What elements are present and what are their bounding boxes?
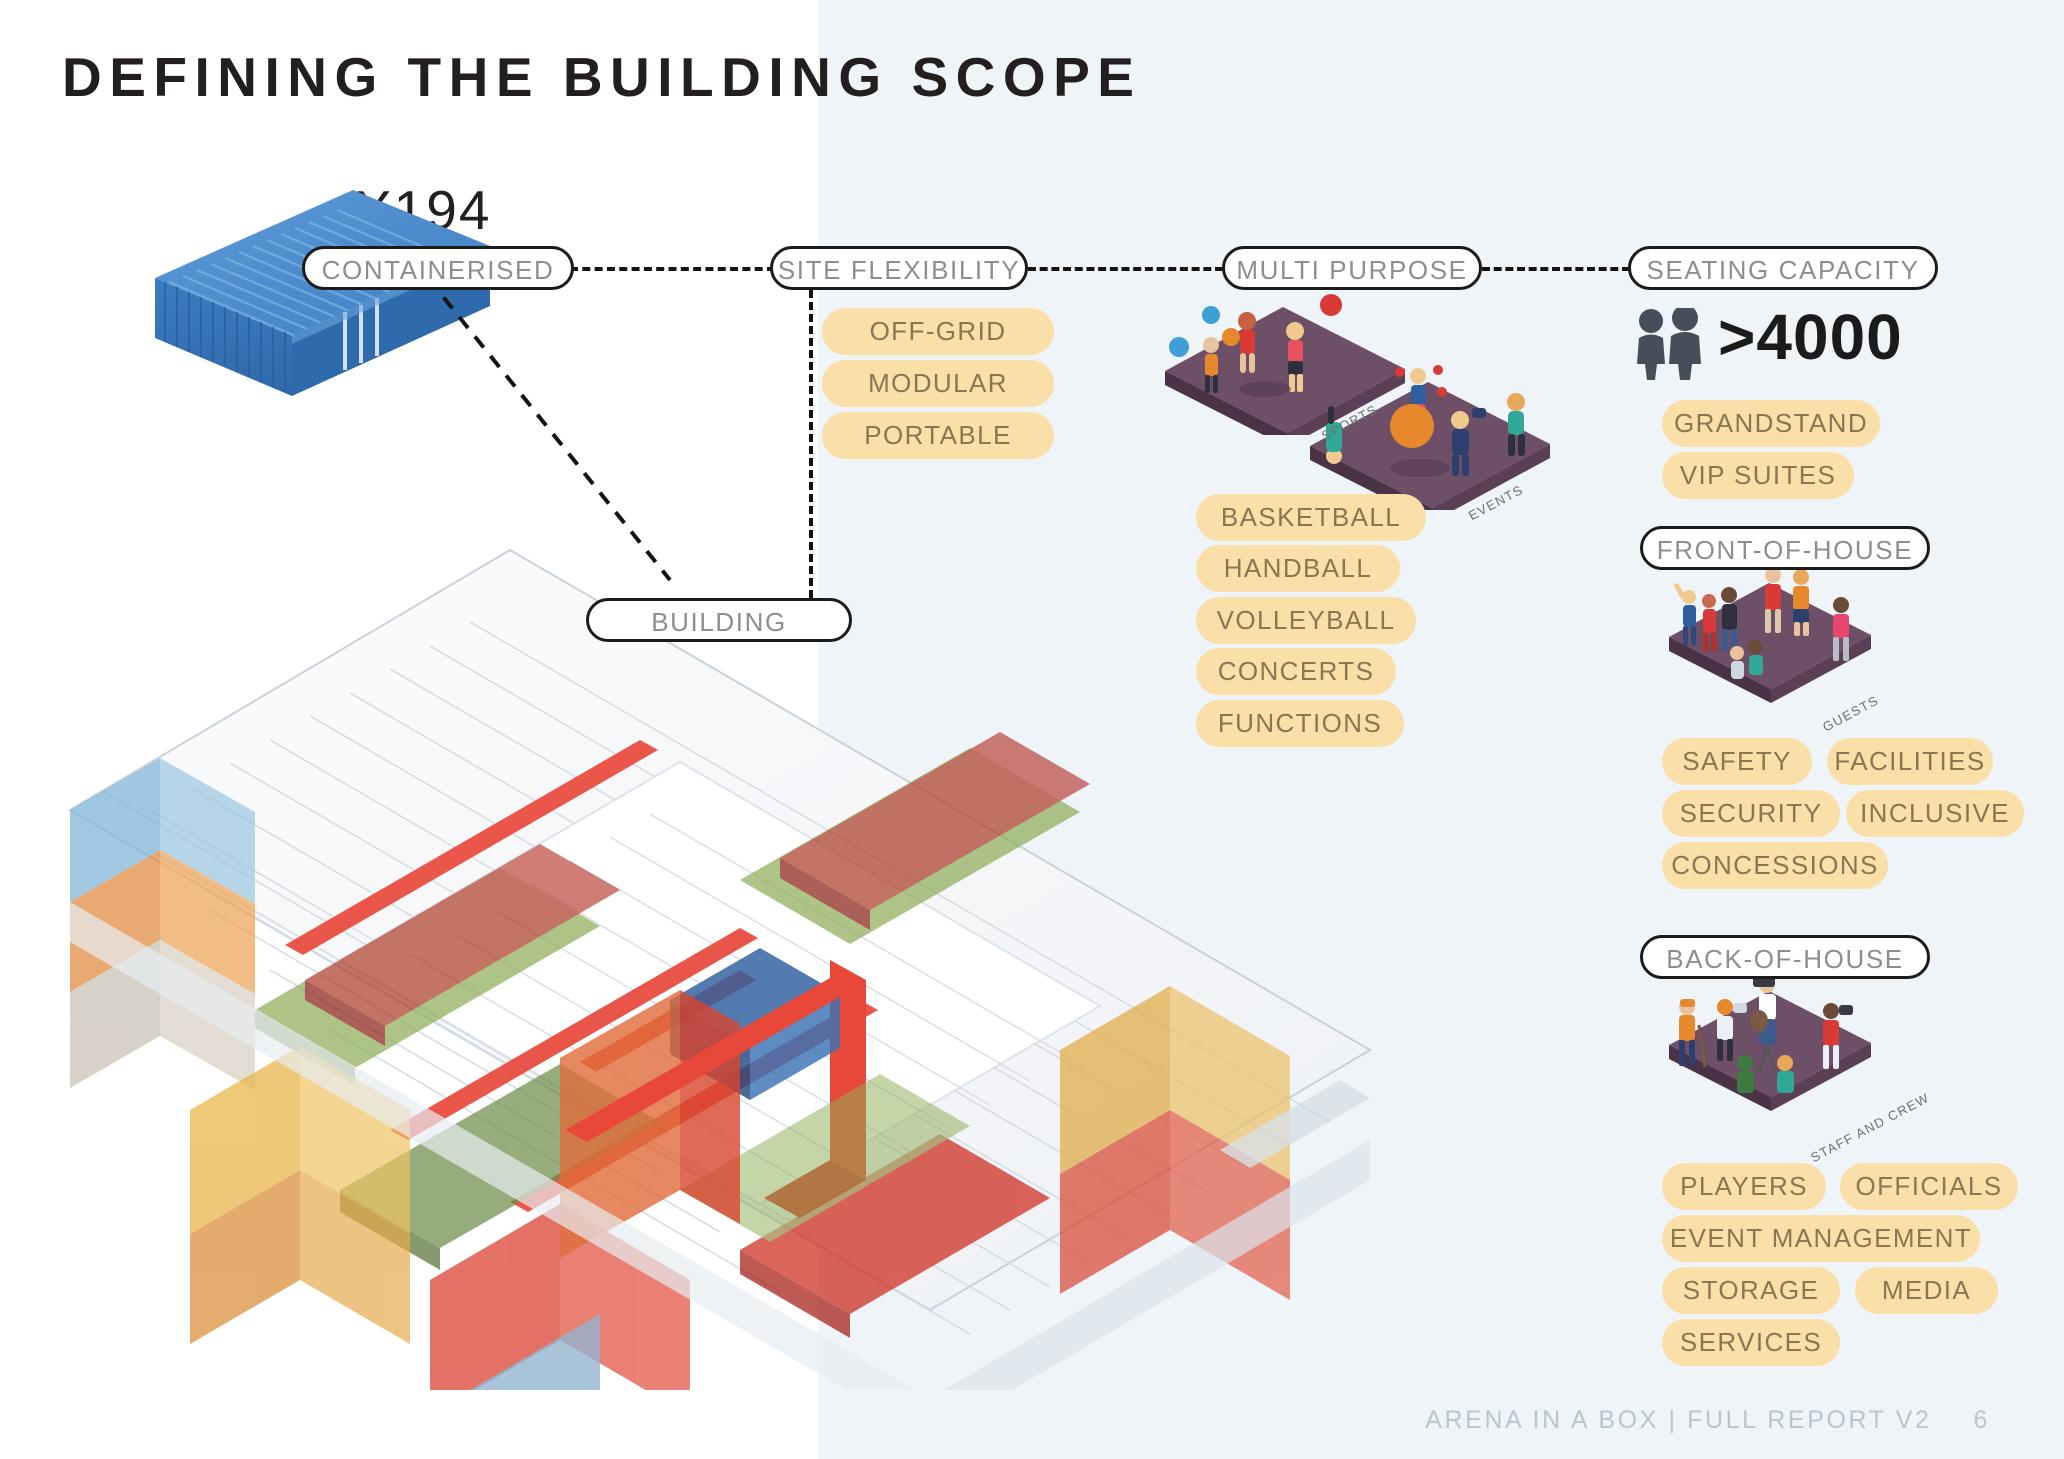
tag-services[interactable]: SERVICES xyxy=(1662,1319,1840,1366)
tag-safety[interactable]: SAFETY xyxy=(1662,738,1812,785)
tag-basketball[interactable]: BASKETBALL xyxy=(1196,494,1426,541)
two-people-icon xyxy=(1632,308,1710,380)
tag-portable[interactable]: PORTABLE xyxy=(822,412,1054,459)
tag-volleyball[interactable]: VOLLEYBALL xyxy=(1196,597,1416,644)
node-building[interactable]: BUILDING xyxy=(586,598,852,642)
connector-containerised-to-building-diagonal xyxy=(420,270,840,630)
node-containerised[interactable]: CONTAINERISED xyxy=(302,246,574,290)
tag-vip-suites[interactable]: VIP SUITES xyxy=(1662,452,1854,499)
tag-media[interactable]: MEDIA xyxy=(1855,1267,1998,1314)
tag-handball[interactable]: HANDBALL xyxy=(1196,545,1400,592)
page-title: DEFINING THE BUILDING SCOPE xyxy=(62,45,1142,109)
tag-security[interactable]: SECURITY xyxy=(1662,790,1840,837)
tag-officials[interactable]: OFFICIALS xyxy=(1840,1163,2018,1210)
connector-multi-purpose-to-seating-capacity xyxy=(1482,267,1630,271)
node-site-flexibility[interactable]: SITE FLEXIBILITY xyxy=(770,246,1028,290)
tag-modular[interactable]: MODULAR xyxy=(822,360,1054,407)
tag-off-grid[interactable]: OFF-GRID xyxy=(822,308,1054,355)
tag-storage[interactable]: STORAGE xyxy=(1662,1267,1840,1314)
tag-inclusive[interactable]: INCLUSIVE xyxy=(1846,790,2024,837)
tag-facilities[interactable]: FACILITIES xyxy=(1827,738,1993,785)
footer-report-label: ARENA IN A BOX | FULL REPORT V2 xyxy=(1425,1406,1931,1435)
tag-functions[interactable]: FUNCTIONS xyxy=(1196,700,1404,747)
footer-page-number: 6 xyxy=(1973,1406,1990,1435)
back-of-house-isometric-scene xyxy=(1655,963,1885,1113)
connector-site-flexibility-to-multi-purpose xyxy=(1028,267,1223,271)
seating-capacity-value: >4000 xyxy=(1718,300,1903,374)
footer: ARENA IN A BOX | FULL REPORT V2 6 xyxy=(1425,1406,1990,1435)
tag-concessions[interactable]: CONCESSIONS xyxy=(1662,842,1888,889)
node-back-of-house[interactable]: BACK-OF-HOUSE xyxy=(1640,935,1930,979)
front-of-house-isometric-scene xyxy=(1655,555,1885,705)
node-front-of-house[interactable]: FRONT-OF-HOUSE xyxy=(1640,526,1930,570)
tag-grandstand[interactable]: GRANDSTAND xyxy=(1662,400,1880,447)
node-seating-capacity[interactable]: SEATING CAPACITY xyxy=(1628,246,1938,290)
tag-event-management[interactable]: EVENT MANAGEMENT xyxy=(1662,1215,1980,1262)
tag-players[interactable]: PLAYERS xyxy=(1662,1163,1826,1210)
node-multi-purpose[interactable]: MULTI PURPOSE xyxy=(1222,246,1482,290)
tag-concerts[interactable]: CONCERTS xyxy=(1196,648,1396,695)
